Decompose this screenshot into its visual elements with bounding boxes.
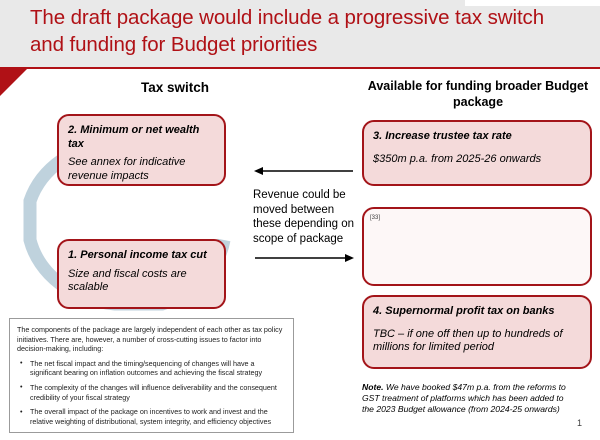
corner-triangle-accent — [0, 69, 27, 96]
column-heading-budget-package: Available for funding broader Budget pac… — [362, 78, 594, 110]
note-lead-in: Note. — [362, 382, 383, 392]
list-item: The net fiscal impact and the timing/seq… — [17, 359, 286, 378]
note-text: We have booked $47m p.a. from the reform… — [362, 382, 566, 414]
list-item: The overall impact of the package on inc… — [17, 407, 286, 426]
components-bullet-list: The net fiscal impact and the timing/seq… — [17, 359, 286, 427]
box-title: 1. Personal income tax cut — [68, 249, 215, 263]
box-body: $350m p.a. from 2025-26 onwards — [373, 153, 581, 167]
components-note-box: The components of the package are largel… — [9, 318, 294, 433]
page-number: 1 — [577, 418, 582, 428]
redaction-reference-label: [33] — [370, 212, 380, 226]
arrow-right-icon — [254, 252, 354, 264]
box-supernormal-profit-tax-on-banks[interactable]: 4. Supernormal profit tax on banks TBC –… — [362, 295, 592, 369]
arrow-left-icon — [254, 165, 354, 177]
components-intro-text: The components of the package are largel… — [17, 325, 286, 354]
box-spacer — [373, 319, 581, 328]
box-increase-trustee-tax-rate[interactable]: 3. Increase trustee tax rate $350m p.a. … — [362, 120, 592, 186]
list-item: The complexity of the changes will influ… — [17, 383, 286, 402]
box-minimum-or-net-wealth-tax[interactable]: 2. Minimum or net wealth tax See annex f… — [57, 114, 226, 186]
box-title: 4. Supernormal profit tax on banks — [373, 305, 581, 319]
box-body: Size and fiscal costs are scalable — [68, 268, 215, 295]
column-heading-tax-switch: Tax switch — [60, 80, 290, 95]
slide-canvas: The draft package would include a progre… — [0, 0, 600, 440]
slide-title: The draft package would include a progre… — [30, 4, 578, 58]
box-title: 3. Increase trustee tax rate — [373, 130, 581, 144]
box-redacted-content[interactable]: [33] — [362, 207, 592, 286]
revenue-transfer-caption: Revenue could be moved between these dep… — [253, 188, 359, 246]
header-divider-rule — [0, 67, 600, 69]
box-body: TBC – if one off then up to hundreds of … — [373, 328, 581, 355]
box-spacer — [373, 144, 581, 153]
box-body: See annex for indicative revenue impacts — [68, 156, 215, 183]
box-title: 2. Minimum or net wealth tax — [68, 124, 215, 151]
gst-booking-note: Note. We have booked $47m p.a. from the … — [362, 382, 577, 415]
box-personal-income-tax-cut[interactable]: 1. Personal income tax cut Size and fisc… — [57, 239, 226, 309]
